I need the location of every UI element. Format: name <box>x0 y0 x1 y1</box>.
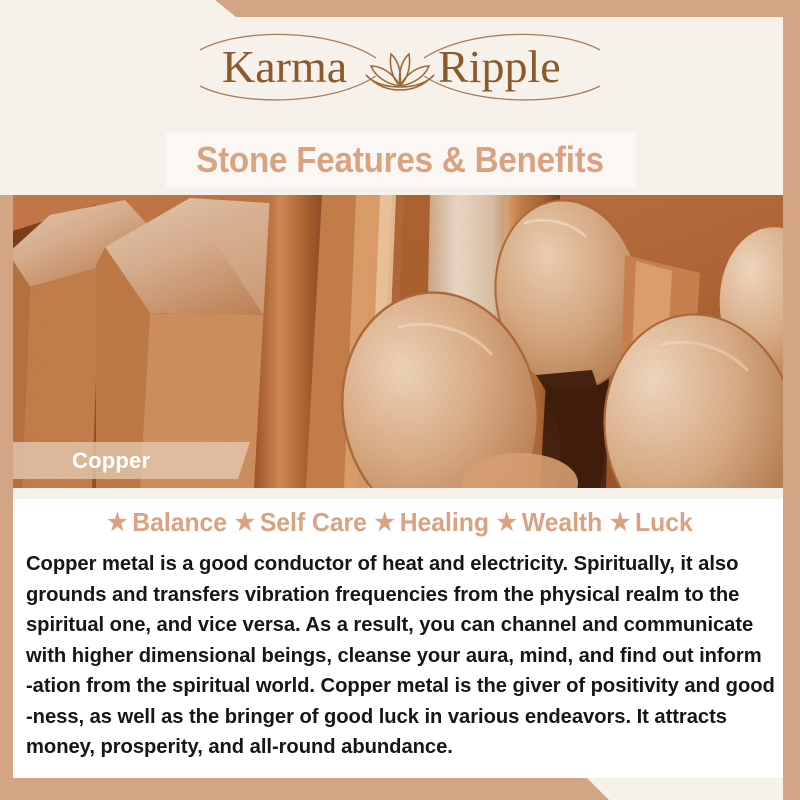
description-text: Copper metal is a good conductor of heat… <box>26 549 759 763</box>
lotus-icon <box>366 54 434 90</box>
photo-separator <box>0 488 800 499</box>
benefits-row: ★ Balance ★ Self Care ★ Healing ★ Wealth… <box>32 507 764 538</box>
star-icon: ★ <box>375 511 395 535</box>
description-line: -ness, as well as the bringer of good lu… <box>26 702 759 733</box>
description-line: money, prosperity, and all-round abundan… <box>26 732 759 763</box>
benefit-self-care: Self Care <box>260 507 367 538</box>
frame-accent-right <box>783 0 800 800</box>
star-icon: ★ <box>107 511 127 535</box>
description-line: grounds and transfers vibration frequenc… <box>26 580 759 611</box>
description-line: Copper metal is a good conductor of heat… <box>26 549 759 580</box>
copper-bars-photo: Copper <box>0 195 800 488</box>
description-line: with higher dimensional beings, cleanse … <box>26 641 759 672</box>
benefit-balance: Balance <box>132 507 227 538</box>
description-line: spiritual one, and vice versa. As a resu… <box>26 610 759 641</box>
star-icon: ★ <box>235 511 255 535</box>
stone-name: Copper <box>72 448 150 474</box>
product-infographic: Karma Ripple Stone Features & Benefits <box>0 0 800 800</box>
page-title: Stone Features & Benefits <box>32 124 768 195</box>
frame-accent-bottom <box>0 778 800 800</box>
benefit-luck: Luck <box>635 507 693 538</box>
header-bar: Karma Ripple <box>0 0 800 124</box>
brand-logo[interactable]: Karma Ripple <box>170 24 630 104</box>
star-icon: ★ <box>497 511 517 535</box>
star-icon: ★ <box>610 511 630 535</box>
content-panel: ★ Balance ★ Self Care ★ Healing ★ Wealth… <box>13 499 783 778</box>
description-line: -ation from the spiritual world. Copper … <box>26 671 759 702</box>
benefit-wealth: Wealth <box>522 507 603 538</box>
brand-logo-artwork: Karma Ripple <box>170 24 630 104</box>
stone-name-chip: Copper <box>0 442 250 479</box>
benefit-healing: Healing <box>400 507 489 538</box>
frame-accent-left <box>0 195 13 800</box>
brand-name-right: Ripple <box>438 41 561 92</box>
brand-name-left: Karma <box>222 41 347 92</box>
